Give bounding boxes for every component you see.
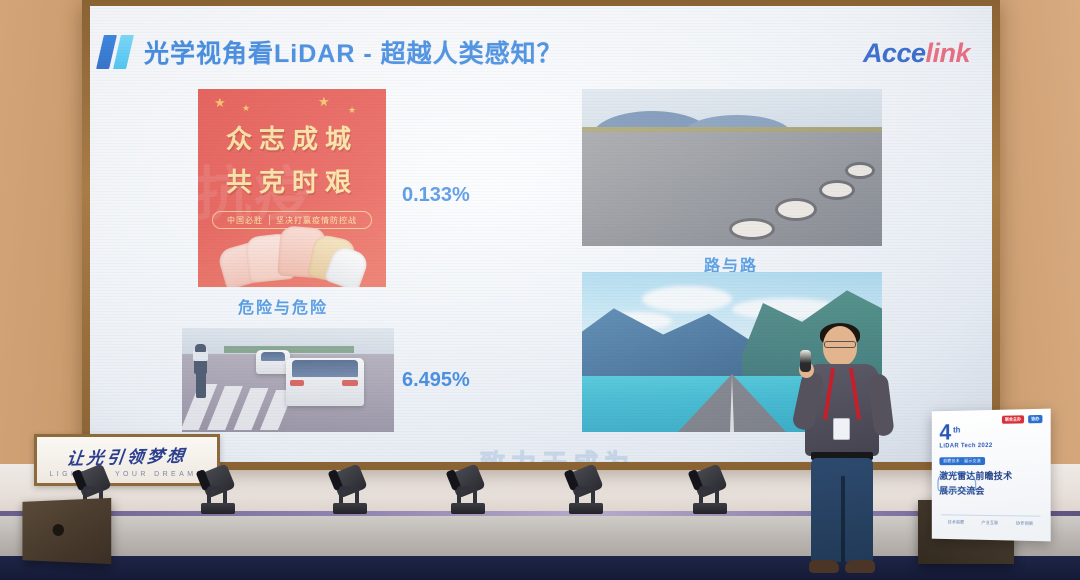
stage-light [198,468,238,514]
covid-poster-image: ★ ★ ★ ★ 抗疫 众志成城 共克时艰 中国必胜 坚决打赢疫情防控战 [198,89,386,287]
microphone-icon [800,350,811,372]
wall-left-panel [0,0,86,470]
presenter-person [795,326,891,580]
presenter-leg-separation [841,476,845,562]
calligraphy-plaque: 让光引领梦想 LIGHTING YOUR DREAMS [34,434,220,486]
presenter-shoe [845,560,875,573]
logo-text-primary: Acce [863,38,926,68]
podium-ordinal: 4 th [939,421,1042,442]
stage-light [448,468,488,514]
screen-faint-text: 致力于成为 [480,444,635,462]
podium-footer-item: 技术前瞻 [948,519,965,525]
metric-value-danger: 0.133% [402,184,470,207]
stage-light [690,468,730,514]
stage-light [566,468,606,514]
presenter-badge [833,418,850,440]
podium-ordinal-suffix: th [953,426,960,435]
slide-title-row: 光学视角看LiDAR - 超越人类感知？ [100,34,563,70]
slide-title: 光学视角看LiDAR - 超越人类感知？ [144,34,563,70]
podium-footer-item: 产业互联 [981,520,998,526]
logo-text-secondary: link [925,38,970,68]
stage-light [330,468,370,514]
joined-hands-illustration [217,219,367,287]
podium-tech-line: LiDAR Tech 2022 [939,442,1042,449]
podium-event-sign: 联合主办 协办 4 th LiDAR Tech 2022 前瞻技术 · 展示交流… [932,409,1051,542]
plaque-chinese-text: 让光引领梦想 [65,441,188,469]
poster-line-2: 共克时艰 [198,162,386,199]
accelink-logo: Accelink [863,38,970,69]
podium-divider [941,514,1040,516]
metric-value-road: 6.495% [402,369,470,392]
wall-right-panel [996,0,1080,470]
glasses-icon [824,341,856,348]
podium-footer: 技术前瞻 产业互联 协作创新 [932,519,1051,527]
presenter-shoe [809,560,839,573]
podium-footer-item: 协作创新 [1016,520,1033,526]
podium-ordinal-number: 4 [939,423,951,443]
stage-speaker-left [22,498,111,564]
conference-stage-photo: 光学视角看LiDAR - 超越人类感知？ Accelink ★ ★ ★ ★ 抗疫… [0,0,1080,580]
traffic-scene-image [182,328,394,432]
caption-danger: 危险与危险 [238,294,328,318]
pothole-road-image [582,89,882,246]
poster-line-1: 众志成城 [198,119,386,156]
podium-tag: 前瞻技术 · 展示交流 [939,457,984,465]
car-outline-icon [938,472,977,492]
title-accent-bars-icon [100,35,130,69]
